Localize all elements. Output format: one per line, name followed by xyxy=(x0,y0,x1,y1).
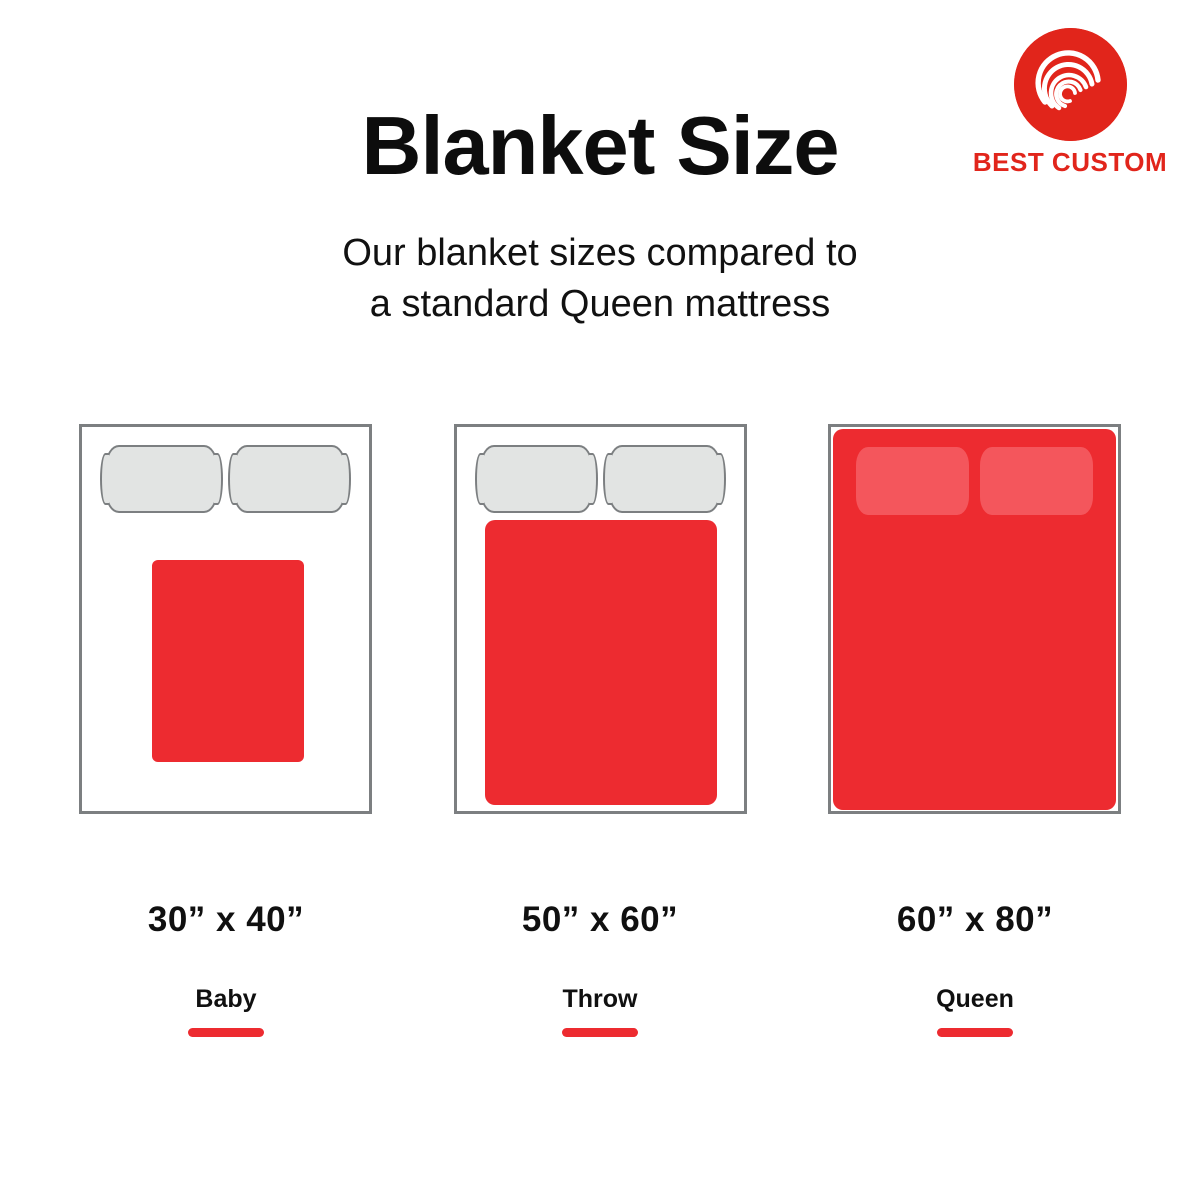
pillow-right xyxy=(233,445,346,513)
blanket-baby xyxy=(152,560,304,762)
caption-queen: 60” x 80” Queen xyxy=(805,900,1145,1037)
underline-rule xyxy=(937,1028,1013,1037)
subtitle-line-1: Our blanket sizes compared to xyxy=(0,228,1200,279)
underline-rule xyxy=(562,1028,638,1037)
dimensions-label: 50” x 60” xyxy=(430,900,770,940)
page-subtitle: Our blanket sizes compared to a standard… xyxy=(0,228,1200,329)
subtitle-line-2: a standard Queen mattress xyxy=(0,279,1200,330)
blanket-queen xyxy=(833,429,1116,810)
bed-diagram-throw xyxy=(454,424,747,814)
pillow-right xyxy=(980,447,1093,515)
bed-diagram-queen xyxy=(828,424,1121,814)
pillow-left xyxy=(480,445,593,513)
bed-diagram-row xyxy=(0,424,1200,816)
blanket-size-infographic: { "brand": { "logo_icon": "fingerprint-i… xyxy=(0,0,1200,1200)
dimensions-label: 60” x 80” xyxy=(805,900,1145,940)
size-name-label: Queen xyxy=(805,985,1145,1014)
page-title: Blanket Size xyxy=(0,104,1200,187)
dimensions-label: 30” x 40” xyxy=(56,900,396,940)
caption-baby: 30” x 40” Baby xyxy=(56,900,396,1037)
pillow-right xyxy=(608,445,721,513)
size-name-label: Baby xyxy=(56,985,396,1014)
pillow-left xyxy=(856,447,969,515)
blanket-throw xyxy=(485,520,717,805)
size-name-label: Throw xyxy=(430,985,770,1014)
bed-diagram-baby xyxy=(79,424,372,814)
underline-rule xyxy=(188,1028,264,1037)
caption-row: 30” x 40” Baby 50” x 60” Throw 60” x 80”… xyxy=(0,900,1200,1060)
pillow-left xyxy=(105,445,218,513)
caption-throw: 50” x 60” Throw xyxy=(430,900,770,1037)
